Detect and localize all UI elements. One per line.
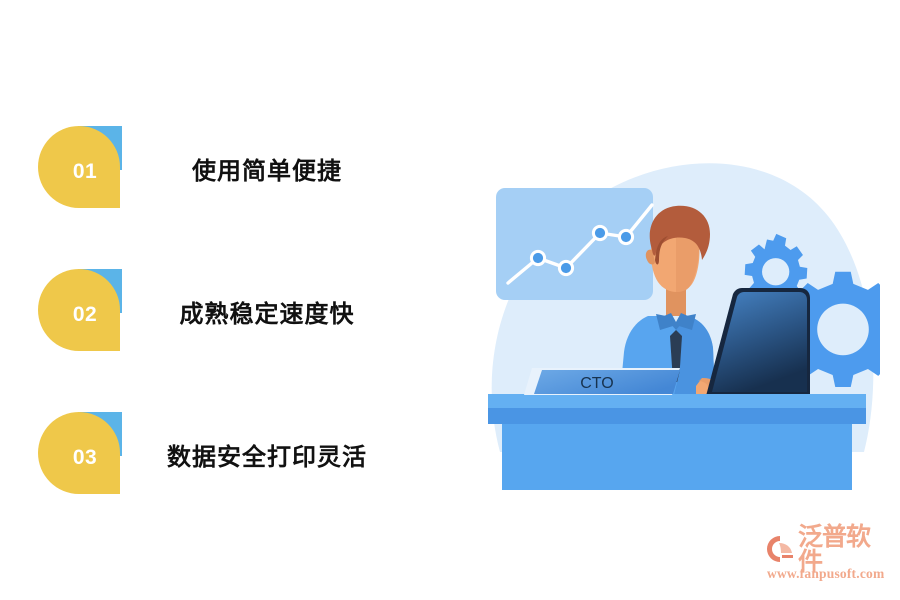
cto-at-desk-illustration: CTO bbox=[470, 120, 880, 490]
feature-badge-02: 02 bbox=[38, 269, 122, 353]
feature-title: 数据安全打印灵活 bbox=[122, 437, 470, 472]
feature-title: 成熟稳定速度快 bbox=[122, 294, 470, 329]
line-chart-board bbox=[496, 188, 653, 300]
feature-list: 01 使用简单便捷 02 成熟稳定速度快 03 数据安全打印灵活 bbox=[0, 0, 470, 600]
nameplate-label: CTO bbox=[580, 375, 613, 392]
badge-leaf-shape: 01 bbox=[38, 126, 120, 208]
badge-number: 02 bbox=[73, 304, 97, 325]
feature-item-01: 01 使用简单便捷 bbox=[0, 123, 470, 213]
badge-number: 03 bbox=[73, 447, 97, 468]
badge-leaf-shape: 03 bbox=[38, 412, 120, 494]
feature-badge-03: 03 bbox=[38, 412, 122, 496]
feature-item-03: 03 数据安全打印灵活 bbox=[0, 409, 470, 499]
badge-number: 01 bbox=[73, 161, 97, 182]
logo-url: www.fanpusoft.com bbox=[767, 566, 891, 582]
fanpusoft-logo: 泛普软件 www.fanpusoft.com bbox=[766, 533, 891, 585]
badge-leaf-shape: 02 bbox=[38, 269, 120, 351]
fanpusoft-mark-icon bbox=[766, 534, 796, 564]
desk bbox=[488, 394, 866, 490]
feature-title: 使用简单便捷 bbox=[122, 151, 470, 186]
slide-canvas: 01 使用简单便捷 02 成熟稳定速度快 03 数据安全打印灵活 bbox=[0, 0, 900, 600]
feature-badge-01: 01 bbox=[38, 126, 122, 210]
nameplate: CTO bbox=[524, 368, 680, 395]
feature-item-02: 02 成熟稳定速度快 bbox=[0, 266, 470, 356]
